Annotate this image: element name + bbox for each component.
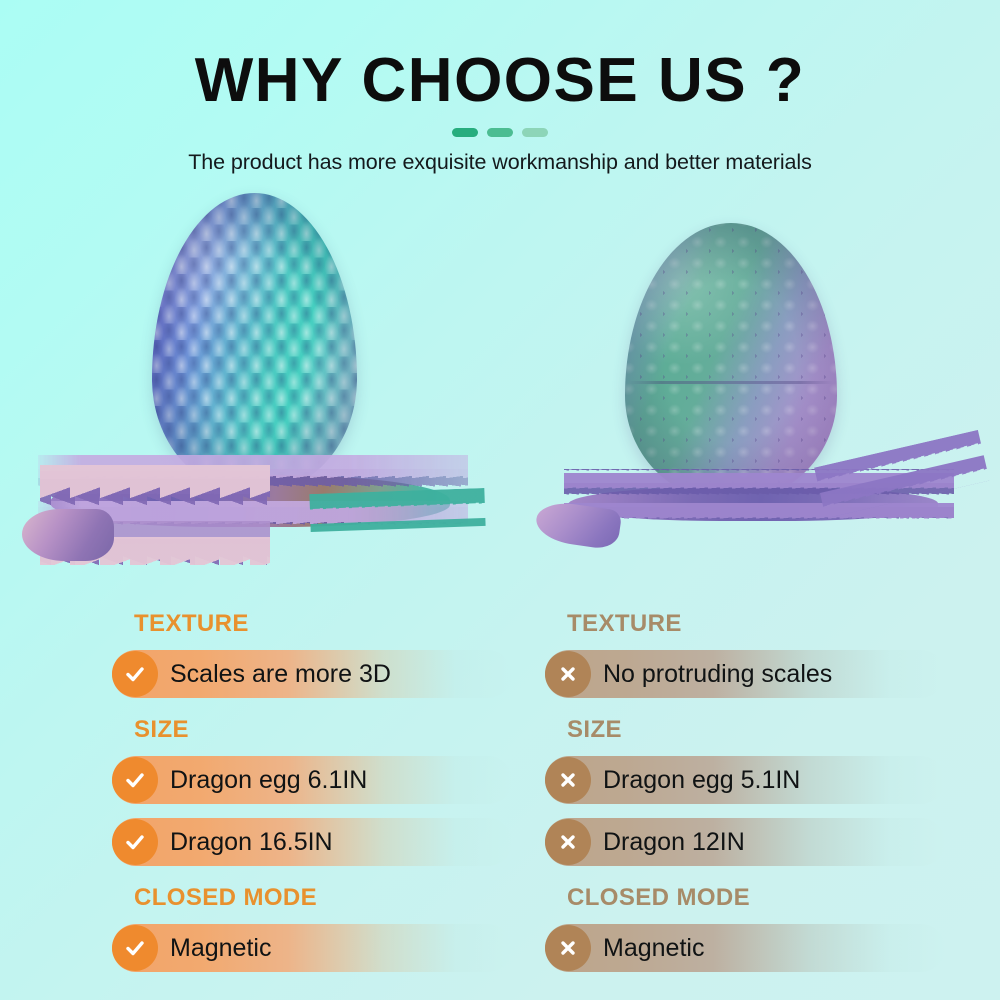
cross-icon [545, 819, 591, 865]
feature-row-dragon-size: Dragon 16.5IN [112, 818, 512, 866]
articulated-dragon-right [520, 457, 990, 577]
dragon-tail [309, 488, 485, 532]
feature-row-egg-size: Dragon egg 5.1IN [545, 756, 945, 804]
header: WHY CHOOSE US ? The product has more exq… [0, 0, 1000, 175]
dash-divider [0, 126, 1000, 138]
check-icon [112, 819, 158, 865]
section-label-size: SIZE [112, 718, 552, 742]
check-icon [112, 651, 158, 697]
feature-text: Magnetic [170, 936, 271, 961]
comparison-column-ours: TEXTURE Scales are more 3D SIZE [112, 612, 552, 972]
feature-text: No protruding scales [603, 662, 832, 687]
page-subtitle: The product has more exquisite workmansh… [0, 150, 1000, 175]
section-label-closed-mode: CLOSED MODE [545, 886, 985, 910]
feature-text: Dragon 16.5IN [170, 830, 333, 855]
check-icon [112, 757, 158, 803]
section-label-closed-mode: CLOSED MODE [112, 886, 552, 910]
cross-icon [545, 925, 591, 971]
cross-icon [545, 651, 591, 697]
section-label-texture: TEXTURE [545, 612, 985, 636]
product-image-row [0, 185, 1000, 605]
infographic-page: WHY CHOOSE US ? The product has more exq… [0, 0, 1000, 1000]
feature-row-egg-size: Dragon egg 6.1IN [112, 756, 512, 804]
page-title: WHY CHOOSE US ? [0, 48, 1000, 113]
dash-2-icon [487, 128, 513, 137]
product-image-left [0, 185, 500, 605]
feature-row-dragon-size: Dragon 12IN [545, 818, 945, 866]
feature-row-closed-mode: Magnetic [112, 924, 512, 972]
feature-row-scales: No protruding scales [545, 650, 945, 698]
articulated-dragon-left [10, 447, 490, 577]
feature-text: Dragon egg 6.1IN [170, 768, 367, 793]
product-image-right [500, 185, 1000, 605]
feature-text: Magnetic [603, 936, 704, 961]
feature-text: Scales are more 3D [170, 662, 391, 687]
cross-icon [545, 757, 591, 803]
dash-1-icon [452, 128, 478, 137]
feature-row-closed-mode: Magnetic [545, 924, 945, 972]
comparison-section: TEXTURE Scales are more 3D SIZE [0, 612, 1000, 1000]
section-label-texture: TEXTURE [112, 612, 552, 636]
check-icon [112, 925, 158, 971]
feature-text: Dragon 12IN [603, 830, 745, 855]
dash-3-icon [522, 128, 548, 137]
comparison-column-theirs: TEXTURE No protruding scales SIZE [545, 612, 985, 972]
feature-row-scales: Scales are more 3D [112, 650, 512, 698]
section-label-size: SIZE [545, 718, 985, 742]
dragon-head [22, 509, 114, 561]
feature-text: Dragon egg 5.1IN [603, 768, 800, 793]
